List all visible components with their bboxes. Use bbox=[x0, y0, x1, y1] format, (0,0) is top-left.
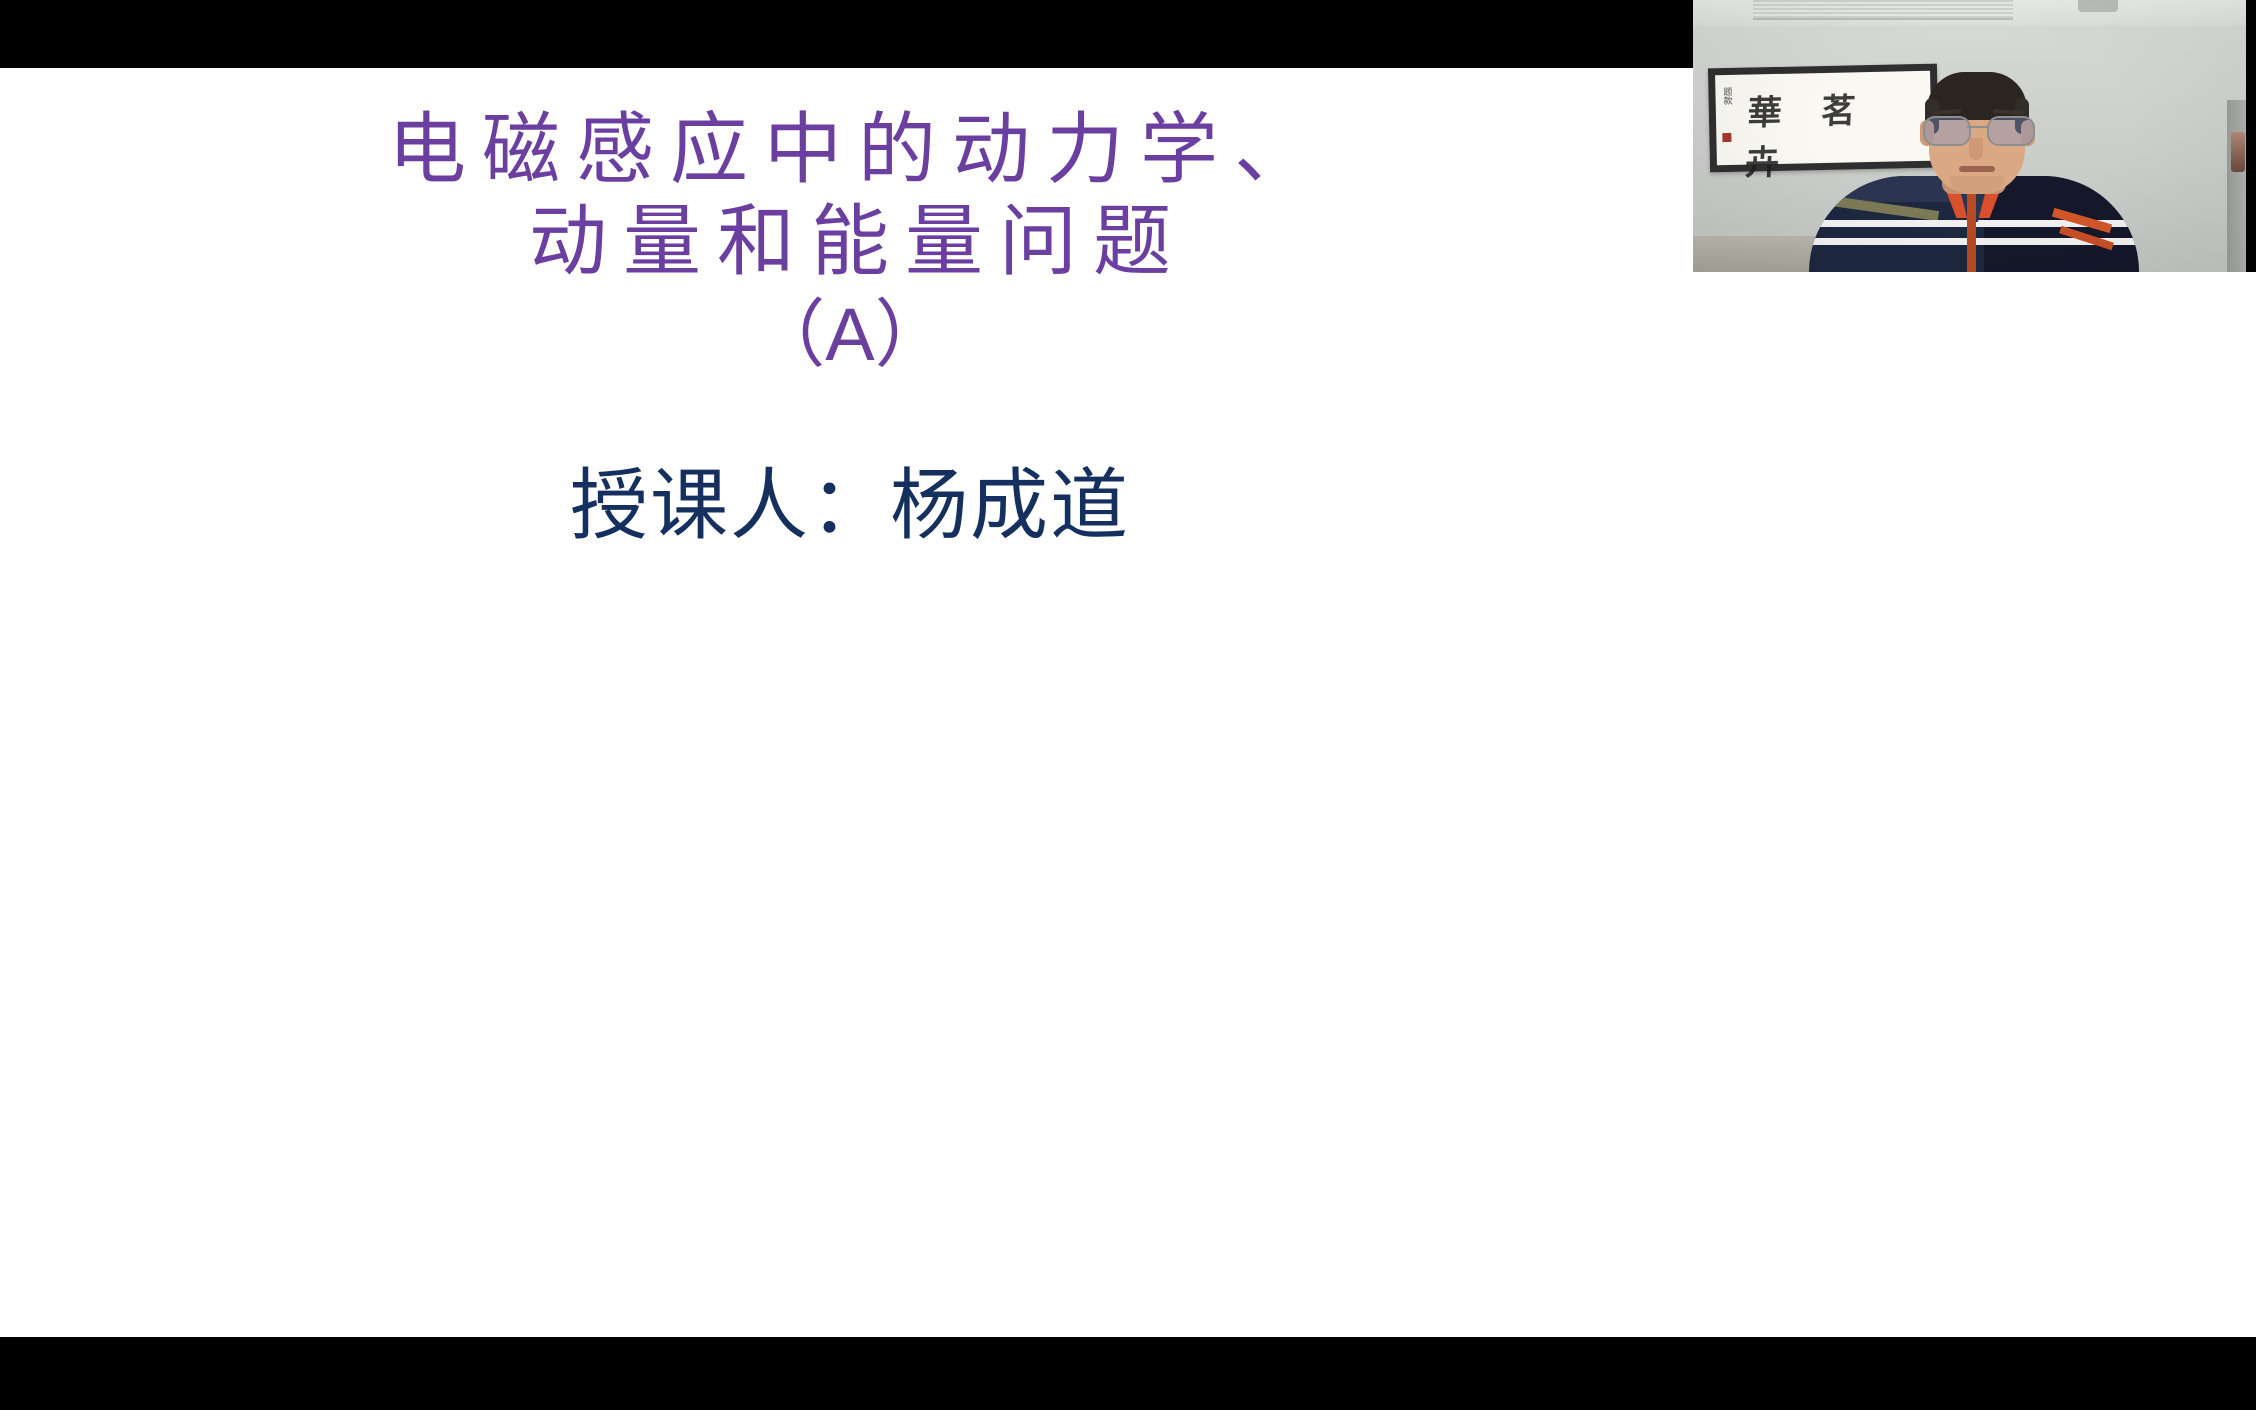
ceiling-vent-icon bbox=[1753, 0, 2013, 20]
wall-object-icon bbox=[2231, 132, 2245, 172]
calligraphy-seal-icon bbox=[1722, 133, 1731, 142]
slide-title-line-1: 电磁感应中的动力学、 bbox=[0, 103, 1700, 195]
eyeglass-lens-right bbox=[1987, 116, 2035, 146]
presentation-screen: 电磁感应中的动力学、 动量和能量问题 （A） 授课人：杨成道 题款 華 茗 卉 bbox=[0, 0, 2256, 1410]
presenter-figure bbox=[1809, 58, 2139, 272]
calligraphy-inscription: 题款 bbox=[1721, 87, 1731, 105]
shirt-placket bbox=[1967, 182, 1976, 272]
letterbox-bar-bottom bbox=[0, 1337, 2256, 1410]
presenter-mouth bbox=[1959, 166, 1995, 172]
presenter-webcam-feed[interactable]: 题款 華 茗 卉 bbox=[1693, 0, 2246, 272]
ceiling-fixture-icon bbox=[2078, 0, 2118, 12]
presenter-credit: 授课人：杨成道 bbox=[0, 463, 1700, 549]
webcam-right-edge-bar bbox=[2246, 0, 2256, 272]
presenter-nose bbox=[1969, 138, 1983, 160]
eyeglass-lens-left bbox=[1923, 116, 1971, 146]
slide-title-block: 电磁感应中的动力学、 动量和能量问题 （A） bbox=[0, 103, 1700, 383]
eyeglass-bridge bbox=[1967, 126, 1989, 128]
slide-title-line-3: （A） bbox=[0, 287, 1700, 383]
door-edge bbox=[2227, 100, 2246, 272]
slide-title-line-2: 动量和能量问题 bbox=[0, 195, 1700, 287]
